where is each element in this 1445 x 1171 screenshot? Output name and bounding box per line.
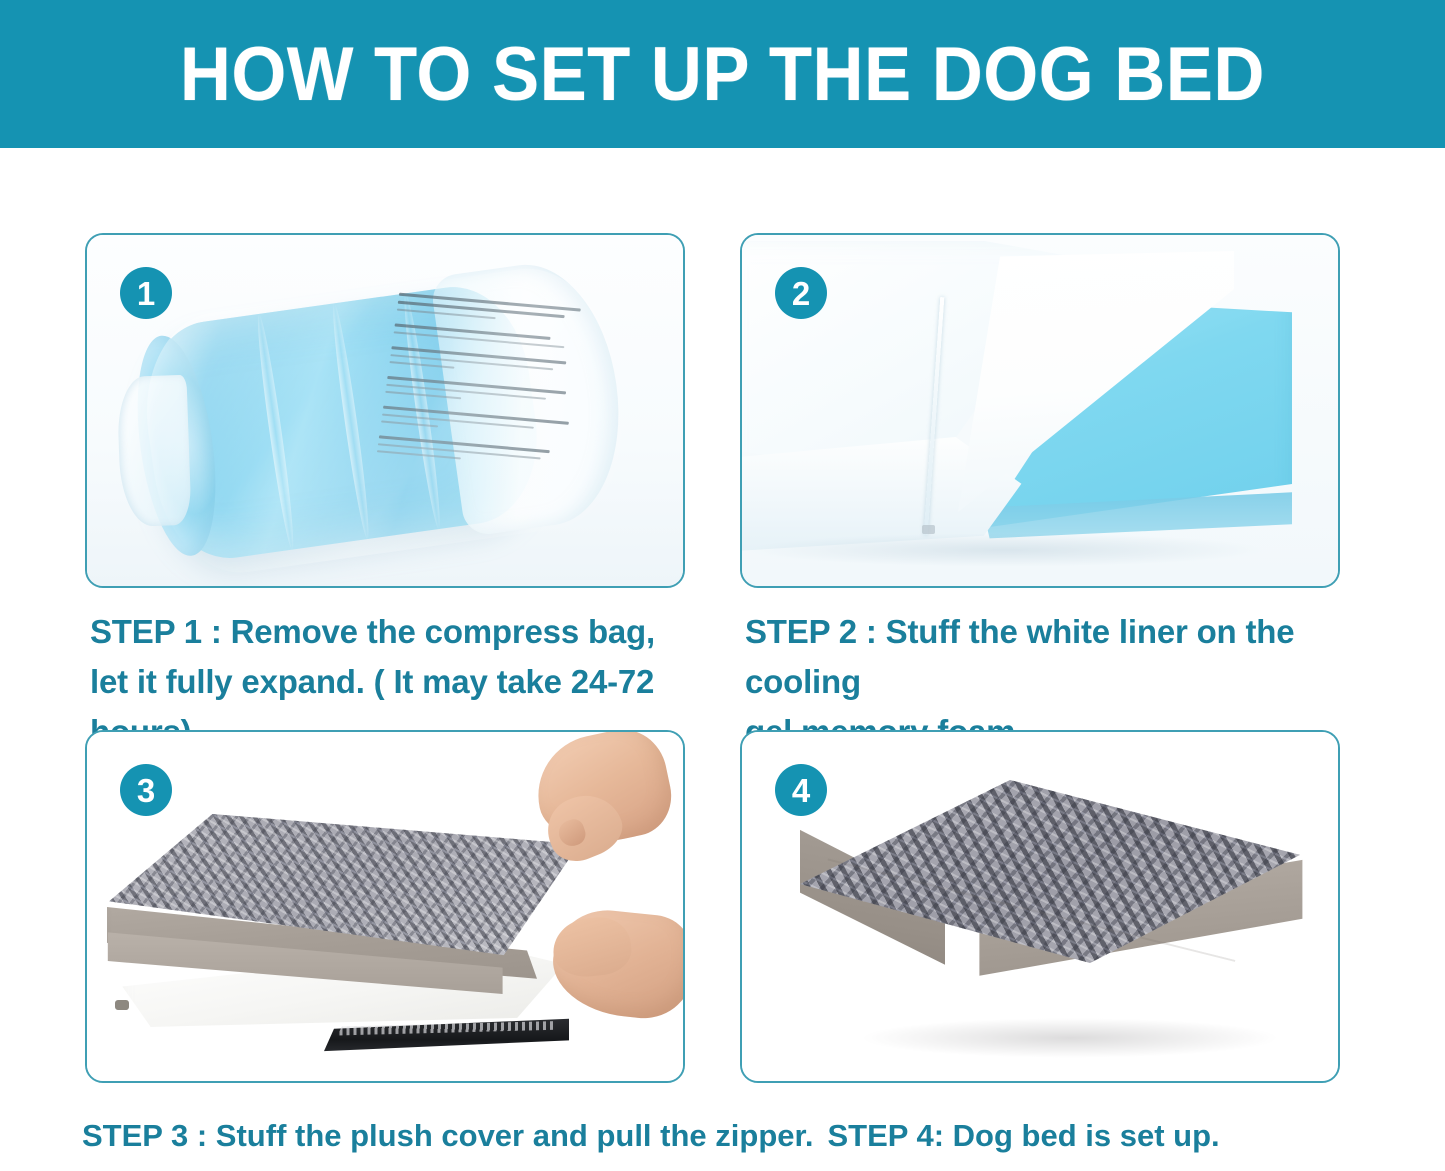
step-3-caption: STEP 3 : Stuff the plush cover and pull … <box>82 1118 813 1153</box>
hand-lower <box>533 904 685 1034</box>
step-badge-4: 4 <box>775 764 827 816</box>
step-badge-3: 3 <box>120 764 172 816</box>
header-banner: HOW TO SET UP THE DOG BED <box>0 0 1445 148</box>
bottom-captions: STEP 3 : Stuff the plush cover and pull … <box>82 1116 1402 1156</box>
warning-label-text <box>371 293 588 508</box>
step-4-illustration <box>742 732 1338 1081</box>
step-2-caption-line-1: STEP 2 : Stuff the white liner on the co… <box>745 607 1385 707</box>
drop-shadow <box>860 1018 1280 1058</box>
step-panel-1: 1 <box>85 233 685 588</box>
step-panel-3: 3 <box>85 730 685 1083</box>
page-title: HOW TO SET UP THE DOG BED <box>180 31 1265 118</box>
step-2-illustration <box>742 235 1338 586</box>
step-panel-4: 4 <box>740 730 1340 1083</box>
step-1-caption-line-1: STEP 1 : Remove the compress bag, <box>90 607 730 657</box>
zipper-tab <box>115 1000 129 1010</box>
drop-shadow <box>746 533 1266 567</box>
step-3-illustration <box>87 732 683 1081</box>
step-badge-1: 1 <box>120 267 172 319</box>
step-panel-2: 2 <box>740 233 1340 588</box>
infographic-page: HOW TO SET UP THE DOG BED <box>0 0 1445 1171</box>
bed-assembly <box>87 732 685 1083</box>
step-4-caption: STEP 4: Dog bed is set up. <box>827 1118 1219 1153</box>
step-badge-2: 2 <box>775 267 827 319</box>
finished-dog-bed <box>800 780 1300 1048</box>
step-1-illustration <box>87 235 683 586</box>
hand-upper <box>519 734 669 866</box>
